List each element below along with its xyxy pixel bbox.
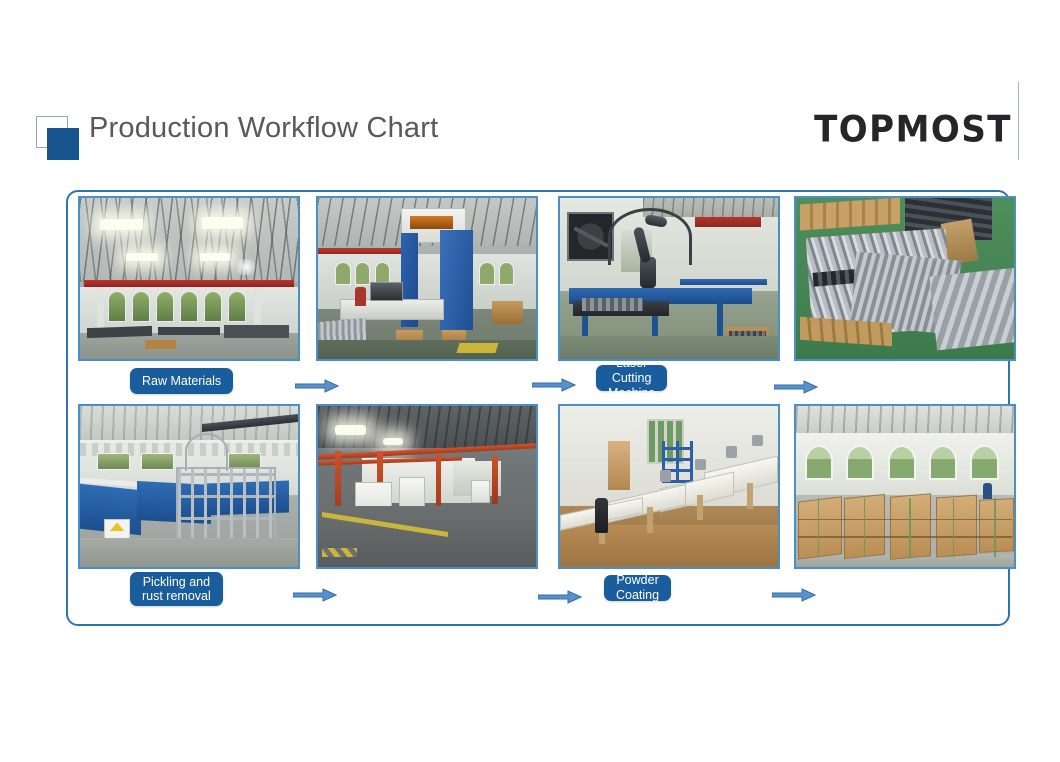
workflow-step-pickling[interactable]: Pickling and rust removal xyxy=(78,404,300,612)
workflow-step-welding-robot[interactable]: welding Robot xyxy=(558,196,780,404)
workflow-step-polished[interactable]: polished xyxy=(794,196,1016,404)
workflow-step-raw-materials[interactable]: Raw Materials xyxy=(78,196,300,404)
factory-warehouse-raw-materials-photo xyxy=(78,196,300,361)
welding-robot-photo xyxy=(558,196,780,361)
packaging-cartons-warehouse-photo xyxy=(794,404,1016,569)
workflow-step-packaging[interactable]: Packaging xyxy=(794,404,1016,612)
polished-metal-parts-photo xyxy=(794,196,1016,361)
pickling-rust-removal-tanks-photo xyxy=(78,404,300,569)
workflow-panel: Raw Materials xyxy=(66,190,1010,626)
step-label-raw-materials: Raw Materials xyxy=(130,368,233,394)
square-overlap-logo-icon xyxy=(36,116,80,160)
laser-cutting-machine-photo xyxy=(316,196,538,361)
workflow-step-laser-cutting[interactable]: Laser Cutting Machine xyxy=(316,196,538,404)
step-label-pickling-and-rust-removal: Pickling and rust removal xyxy=(130,572,223,606)
workflow-step-assembling[interactable]: Assembling xyxy=(558,404,780,612)
slide-page: Production Workflow Chart TOPMOST xyxy=(0,0,1060,762)
brand-divider-line xyxy=(1018,82,1019,160)
logo-solid-square xyxy=(47,128,79,160)
page-title: Production Workflow Chart xyxy=(89,112,438,145)
brand-logo-topmost: TOPMOST xyxy=(814,108,1012,151)
assembling-workshop-photo xyxy=(558,404,780,569)
workflow-row-1: Raw Materials xyxy=(68,196,1012,404)
powder-coating-line-photo xyxy=(316,404,538,569)
slide-header: Production Workflow Chart TOPMOST xyxy=(0,86,1060,166)
workflow-step-powder-coating[interactable]: Powder Coating xyxy=(316,404,538,612)
workflow-row-2: Pickling and rust removal xyxy=(68,404,1012,612)
